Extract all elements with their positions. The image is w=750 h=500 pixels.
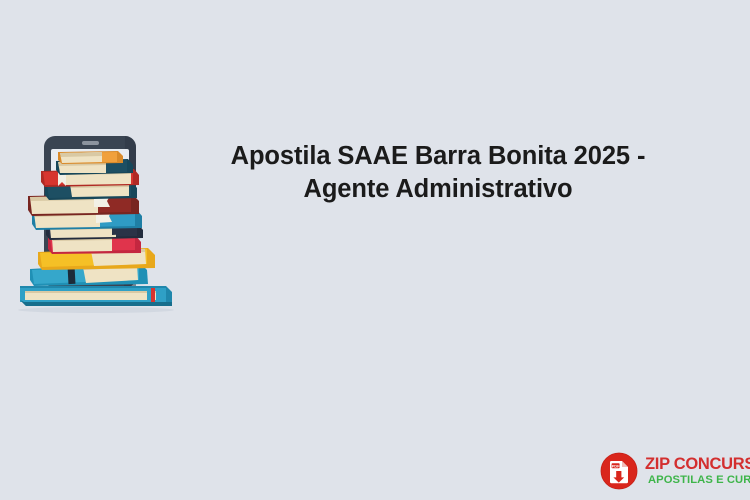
- promo-card: Apostila SAAE Barra Bonita 2025 - Agente…: [0, 0, 750, 500]
- book-orange-top: [58, 151, 123, 164]
- brand-wordmark: ZIP CONCURSOS APOSTILAS E CURSOS: [645, 456, 750, 487]
- pdf-download-icon: PDF: [600, 452, 638, 490]
- brand-logo[interactable]: PDF ZIP CONCURSOS APOSTILAS E CURSOS: [600, 450, 736, 492]
- brand-name: ZIP CONCURSOS: [645, 456, 750, 473]
- book-bottom-teal: [20, 286, 172, 306]
- stack-of-books-with-tablet-illustration: [8, 130, 180, 315]
- page-title: Apostila SAAE Barra Bonita 2025 - Agente…: [196, 140, 680, 206]
- svg-text:PDF: PDF: [612, 463, 620, 468]
- brand-tagline: APOSTILAS E CURSOS: [645, 475, 750, 486]
